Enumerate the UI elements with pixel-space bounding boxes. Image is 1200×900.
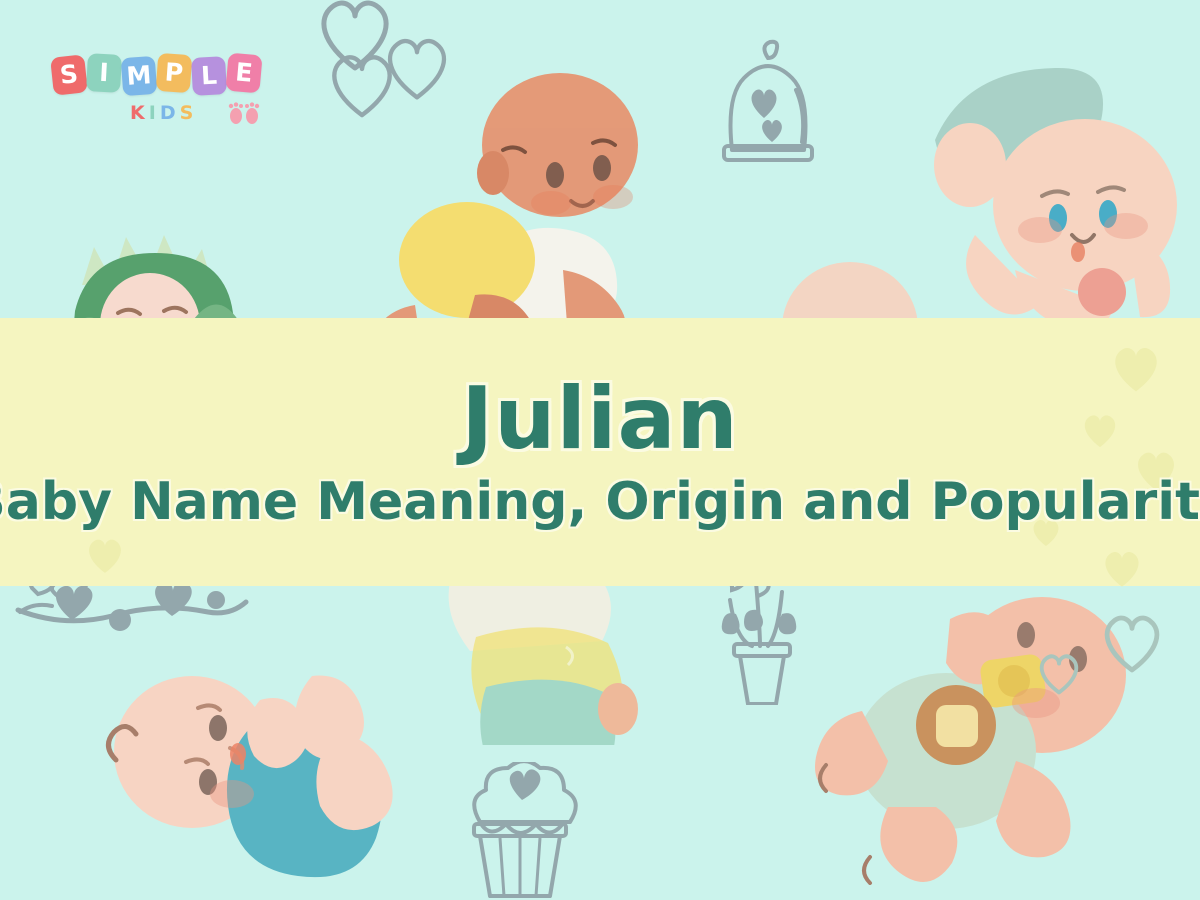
potted-heart-plant-icon [698, 570, 818, 705]
logo-block-e: E [225, 53, 262, 94]
outline-heart-icon [322, 44, 402, 124]
birdcage-with-hearts-icon [708, 38, 828, 173]
logo-kids-letter-i: I [149, 102, 160, 124]
baby-name-subtitle: Baby Name Meaning, Origin and Popularity [0, 476, 1200, 528]
cupcake-with-heart-icon [460, 762, 590, 900]
site-logo[interactable]: S I M P L E KIDS [52, 52, 272, 144]
outline-heart-icon [310, 0, 400, 78]
outline-heart-icon [1034, 648, 1084, 698]
baby-name-title: Julian [461, 376, 738, 462]
outline-heart-icon [378, 28, 456, 106]
logo-kids-letter-d: D [160, 102, 180, 124]
filled-heart-icon [1106, 338, 1166, 398]
logo-kids-word: KIDS [130, 102, 197, 124]
baby-footprints-icon [227, 102, 261, 126]
logo-kids-letter-s: S [180, 102, 198, 124]
title-band: Julian Baby Name Meaning, Origin and Pop… [0, 318, 1200, 586]
logo-block-s: S [50, 54, 88, 95]
reaching-baby-illustration [880, 30, 1180, 330]
logo-block-i: I [86, 53, 122, 93]
crawling-baby-illustration [355, 55, 655, 345]
poster-canvas: S I M P L E KIDS [0, 0, 1200, 900]
logo-block-p: P [156, 53, 193, 93]
filled-heart-icon [1098, 544, 1146, 592]
logo-kids-letter-k: K [130, 102, 149, 124]
outline-heart-icon [1096, 606, 1168, 678]
logo-block-m: M [121, 56, 158, 96]
logo-letter-blocks: S I M P L E [52, 52, 258, 104]
pacifier-baby-illustration [810, 575, 1130, 885]
filled-heart-icon [1078, 408, 1122, 452]
logo-block-l: L [191, 56, 227, 96]
lying-baby-blue-diaper-illustration [90, 640, 400, 880]
filled-heart-icon [82, 532, 128, 578]
